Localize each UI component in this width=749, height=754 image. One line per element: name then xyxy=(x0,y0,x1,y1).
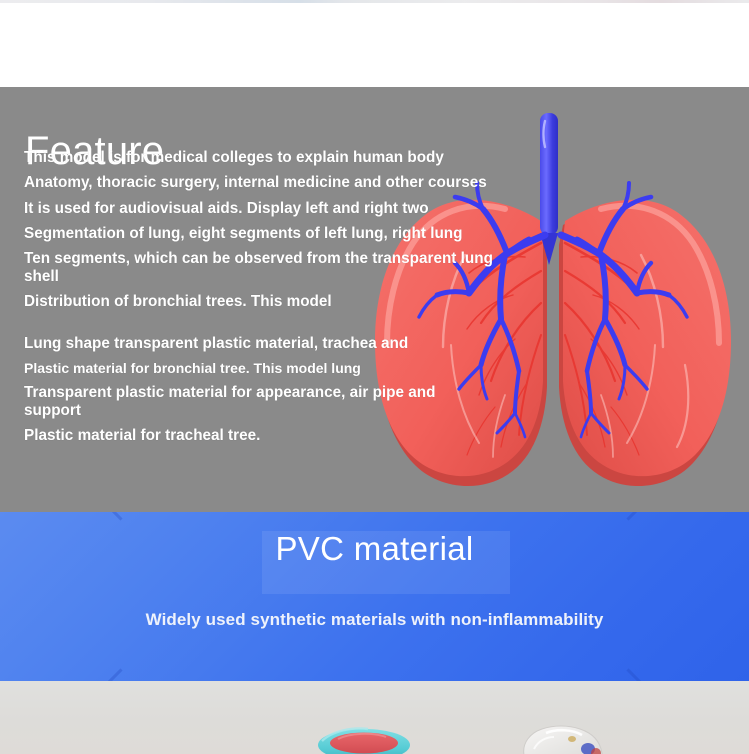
list-item: This model is for medical colleges to ex… xyxy=(24,149,494,167)
chevron-decoration-right-bottom xyxy=(626,668,749,681)
list-item: Anatomy, thoracic surgery, internal medi… xyxy=(24,174,494,192)
list-item: Lung shape transparent plastic material,… xyxy=(24,335,494,353)
clear-plastic-lung-model xyxy=(516,709,620,754)
list-item: Distribution of bronchial trees. This mo… xyxy=(24,293,494,311)
previous-slide-sliver xyxy=(0,0,749,3)
list-item: Plastic material for bronchial tree. Thi… xyxy=(24,360,494,376)
list-item: Transparent plastic material for appeara… xyxy=(24,384,494,420)
feature-section: Feature This model is for medical colleg… xyxy=(0,87,749,512)
feature-list: This model is for medical colleges to ex… xyxy=(24,149,494,453)
product-photo-section xyxy=(0,681,749,754)
pvc-title: PVC material xyxy=(0,530,749,568)
pvc-material-section: PVC material Widely used synthetic mater… xyxy=(0,512,749,681)
list-item: Plastic material for tracheal tree. xyxy=(24,427,494,445)
product-detail-page: Feature This model is for medical colleg… xyxy=(0,0,749,754)
chevron-decoration-left-top xyxy=(0,512,123,521)
chevron-decoration-left-bottom xyxy=(0,668,123,681)
chevron-decoration-right-top xyxy=(626,512,749,521)
list-item: Ten segments, which can be observed from… xyxy=(24,250,494,286)
pvc-subtitle: Widely used synthetic materials with non… xyxy=(0,610,749,630)
list-item: It is used for audiovisual aids. Display… xyxy=(24,200,494,218)
teal-lung-half-model xyxy=(316,715,412,754)
list-item: Segmentation of lung, eight segments of … xyxy=(24,225,494,243)
